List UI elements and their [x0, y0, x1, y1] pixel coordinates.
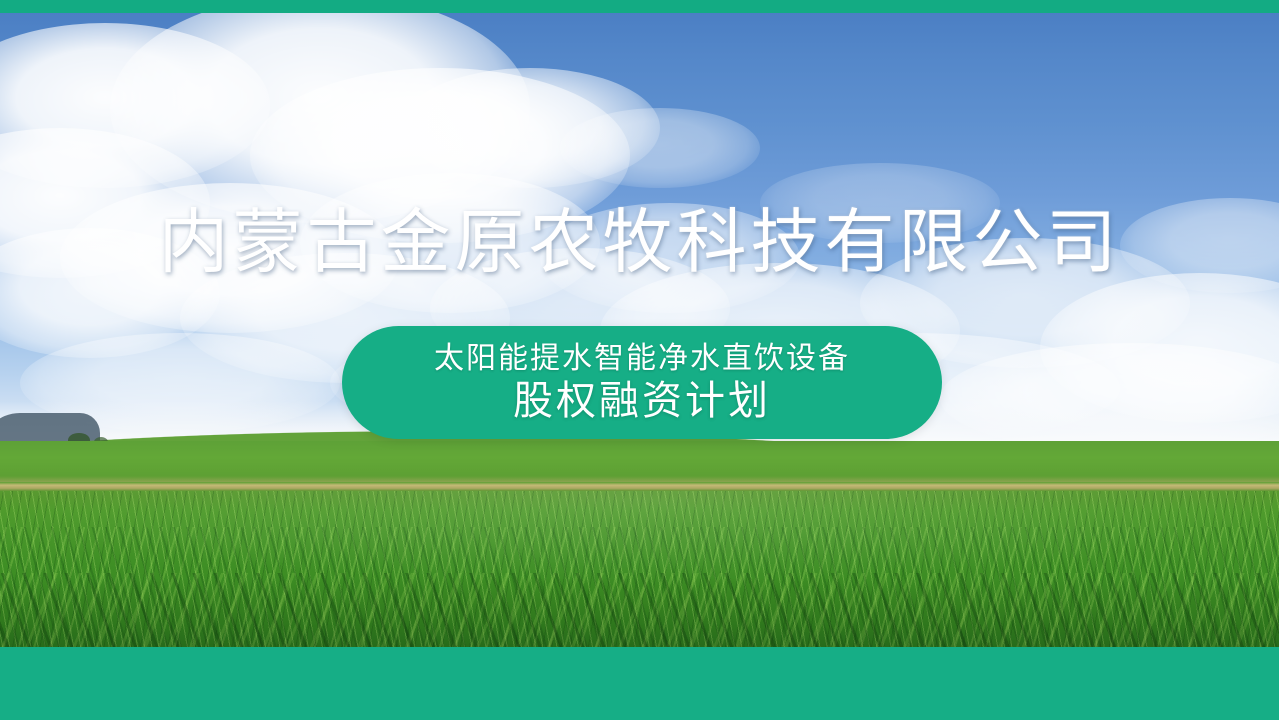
subtitle-product-line: 太阳能提水智能净水直饮设备: [434, 342, 850, 376]
page-title: 内蒙古金原农牧科技有限公司: [0, 203, 1279, 281]
field-path-strip: [0, 482, 1279, 491]
subtitle-plan-line: 股权融资计划: [513, 378, 771, 424]
cover-slide: 内蒙古金原农牧科技有限公司 太阳能提水智能净水直饮设备 股权融资计划: [0, 0, 1279, 720]
bottom-brand-bar: [0, 647, 1279, 720]
field-shading: [0, 491, 1279, 647]
subtitle-pill: 太阳能提水智能净水直饮设备 股权融资计划: [342, 326, 942, 439]
top-brand-bar: [0, 0, 1279, 13]
